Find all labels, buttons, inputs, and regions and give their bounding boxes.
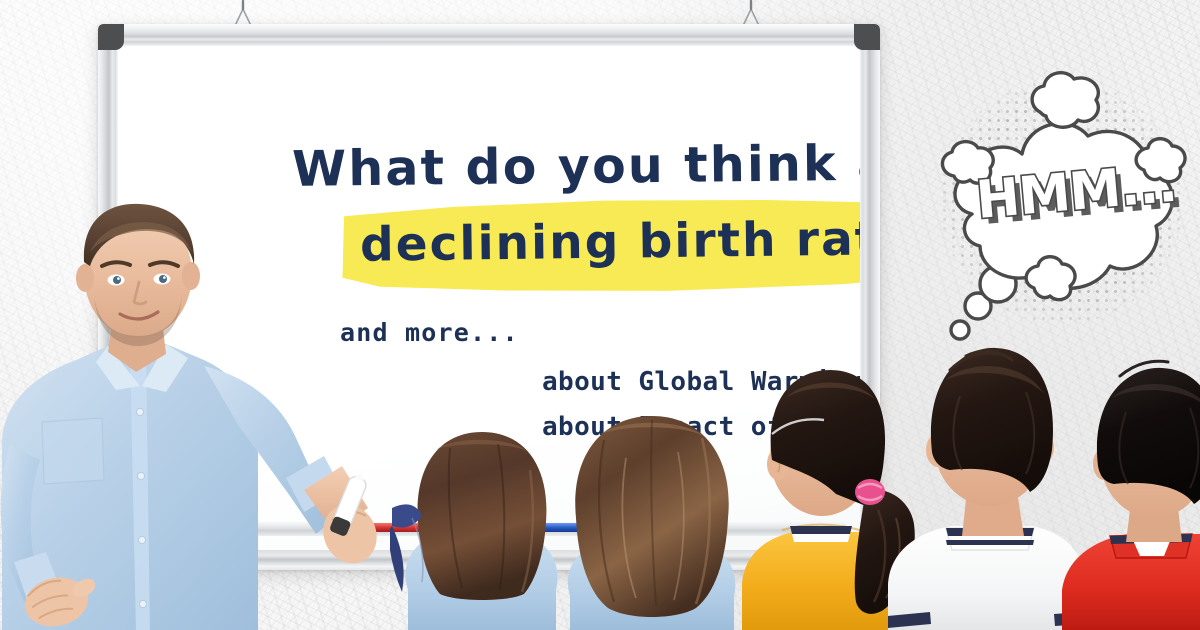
- teacher-figure: [0, 190, 390, 630]
- student-4: [888, 348, 1084, 630]
- headline-line-2: declining birth rates?: [360, 210, 880, 272]
- frame-corner-top-right: [854, 24, 880, 50]
- thought-bubble-shape: HMM... HMM...: [928, 66, 1196, 362]
- headline-line-1: What do you think about: [292, 133, 880, 198]
- student-5: [1062, 361, 1200, 630]
- thought-bubble: HMM... HMM...: [928, 66, 1196, 362]
- frame-corner-top-left: [98, 24, 124, 50]
- students-group: [390, 340, 1200, 630]
- student-1: [390, 432, 558, 630]
- frame-rail-top: [98, 24, 880, 46]
- student-2: [568, 416, 736, 630]
- headline-highlight-group: declining birth rates?: [342, 196, 880, 292]
- poster-scene: What do you think about declining birth …: [0, 0, 1200, 630]
